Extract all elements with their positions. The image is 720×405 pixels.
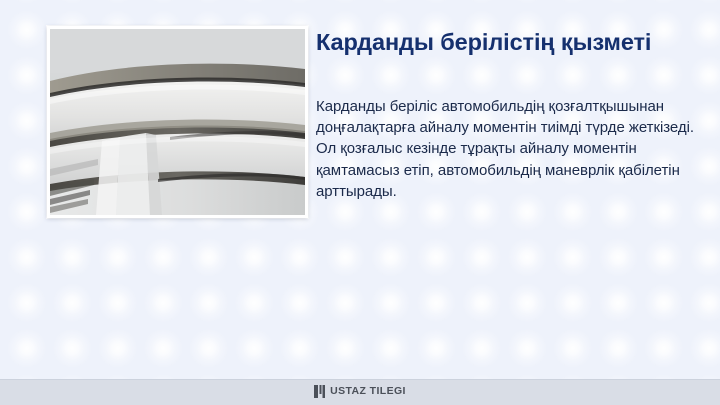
slide-root: Карданды берілістің қызметі Карданды бер… — [0, 0, 720, 405]
body-paragraph: Карданды беріліс автомобильдің қозғалтқы… — [316, 96, 698, 202]
photo-frame — [47, 26, 308, 218]
architecture-photo-illustration — [50, 29, 305, 215]
ustaz-logo-icon — [314, 385, 325, 398]
page-title: Карданды берілістің қызметі — [316, 28, 708, 57]
content-photo — [50, 29, 305, 215]
footer-logo: USTAZ TILEGI — [0, 385, 720, 398]
footer-brand-label: USTAZ TILEGI — [330, 385, 406, 398]
footer-bar: USTAZ TILEGI — [0, 379, 720, 405]
